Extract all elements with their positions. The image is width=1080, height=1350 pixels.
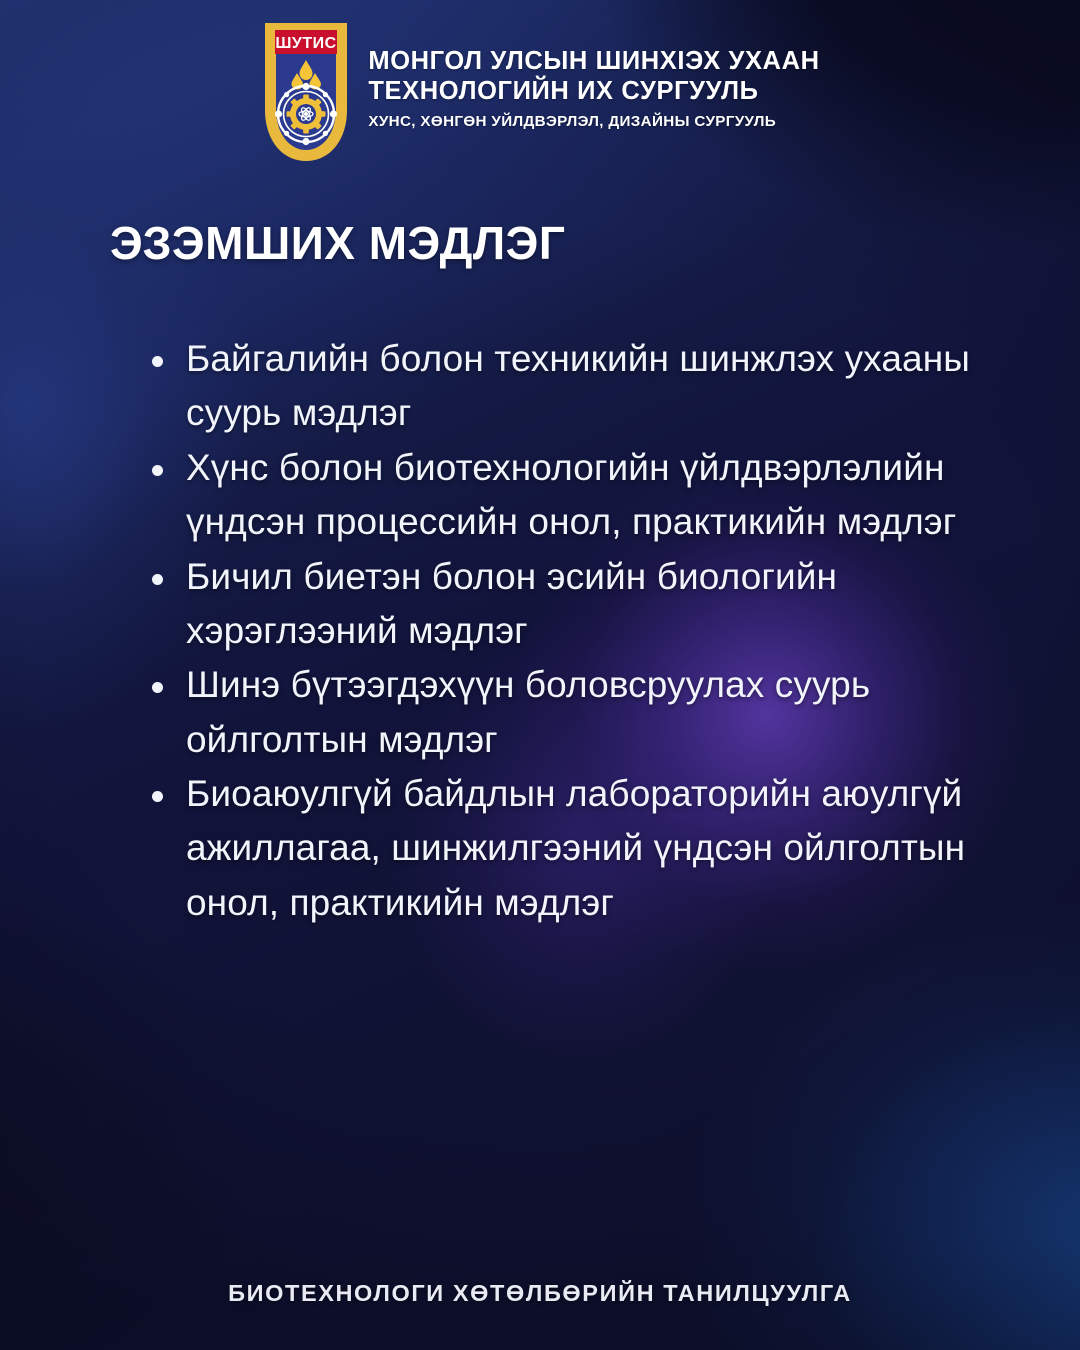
bullet-dot-icon	[152, 574, 163, 585]
page-title: ЭЗЭМШИХ МЭДЛЭГ	[110, 216, 565, 270]
list-item: Хүнс болон биотехнологийн үйлдвэрлэлийн …	[140, 441, 1000, 550]
bullet-dot-icon	[152, 791, 163, 802]
bullet-dot-icon	[152, 465, 163, 476]
footer-caption: БИОТЕХНОЛОГИ ХӨТӨЛБӨРИЙН ТАНИЛЦУУЛГА	[0, 1280, 1080, 1307]
list-item: Биоаюулгүй байдлын лабораторийн аюулгүй …	[140, 767, 1000, 930]
list-item: Бичил биетэн болон эсийн биологийн хэрэг…	[140, 550, 1000, 659]
list-item-text: Биоаюулгүй байдлын лабораторийн аюулгүй …	[186, 773, 965, 923]
university-name-line-2: ТЕХНОЛОГИЙН ИХ СУРГУУЛЬ	[368, 76, 819, 106]
list-item: Байгалийн болон техникийн шинжлэх ухааны…	[140, 332, 1000, 441]
header-text-block: МОНГОЛ УЛСЫН ШИНХIЭХ УХААН ТЕХНОЛОГИЙН И…	[368, 18, 819, 130]
list-item: Шинэ бүтээгдэхүүн боловсруулах суурь ойл…	[140, 658, 1000, 767]
knowledge-bullet-list: Байгалийн болон техникийн шинжлэх ухааны…	[140, 332, 1000, 930]
list-item-text: Шинэ бүтээгдэхүүн боловсруулах суурь ойл…	[186, 664, 870, 759]
university-emblem-icon: ШУТИС	[260, 18, 352, 166]
svg-text:ШУТИС: ШУТИС	[276, 35, 337, 52]
bullet-dot-icon	[152, 356, 163, 367]
university-name-line-1: МОНГОЛ УЛСЫН ШИНХIЭХ УХААН	[368, 46, 819, 76]
list-item-text: Бичил биетэн болон эсийн биологийн хэрэг…	[186, 556, 837, 651]
slide-canvas: ШУТИС	[0, 0, 1080, 1350]
list-item-text: Хүнс болон биотехнологийн үйлдвэрлэлийн …	[186, 447, 956, 542]
school-name-line: ХУНС, ХӨНГӨН УЙЛДВЭРЛЭЛ, ДИЗАЙНЫ СУРГУУЛ…	[368, 113, 819, 130]
header: ШУТИС	[0, 18, 1080, 166]
bullet-dot-icon	[152, 682, 163, 693]
list-item-text: Байгалийн болон техникийн шинжлэх ухааны…	[186, 338, 970, 433]
